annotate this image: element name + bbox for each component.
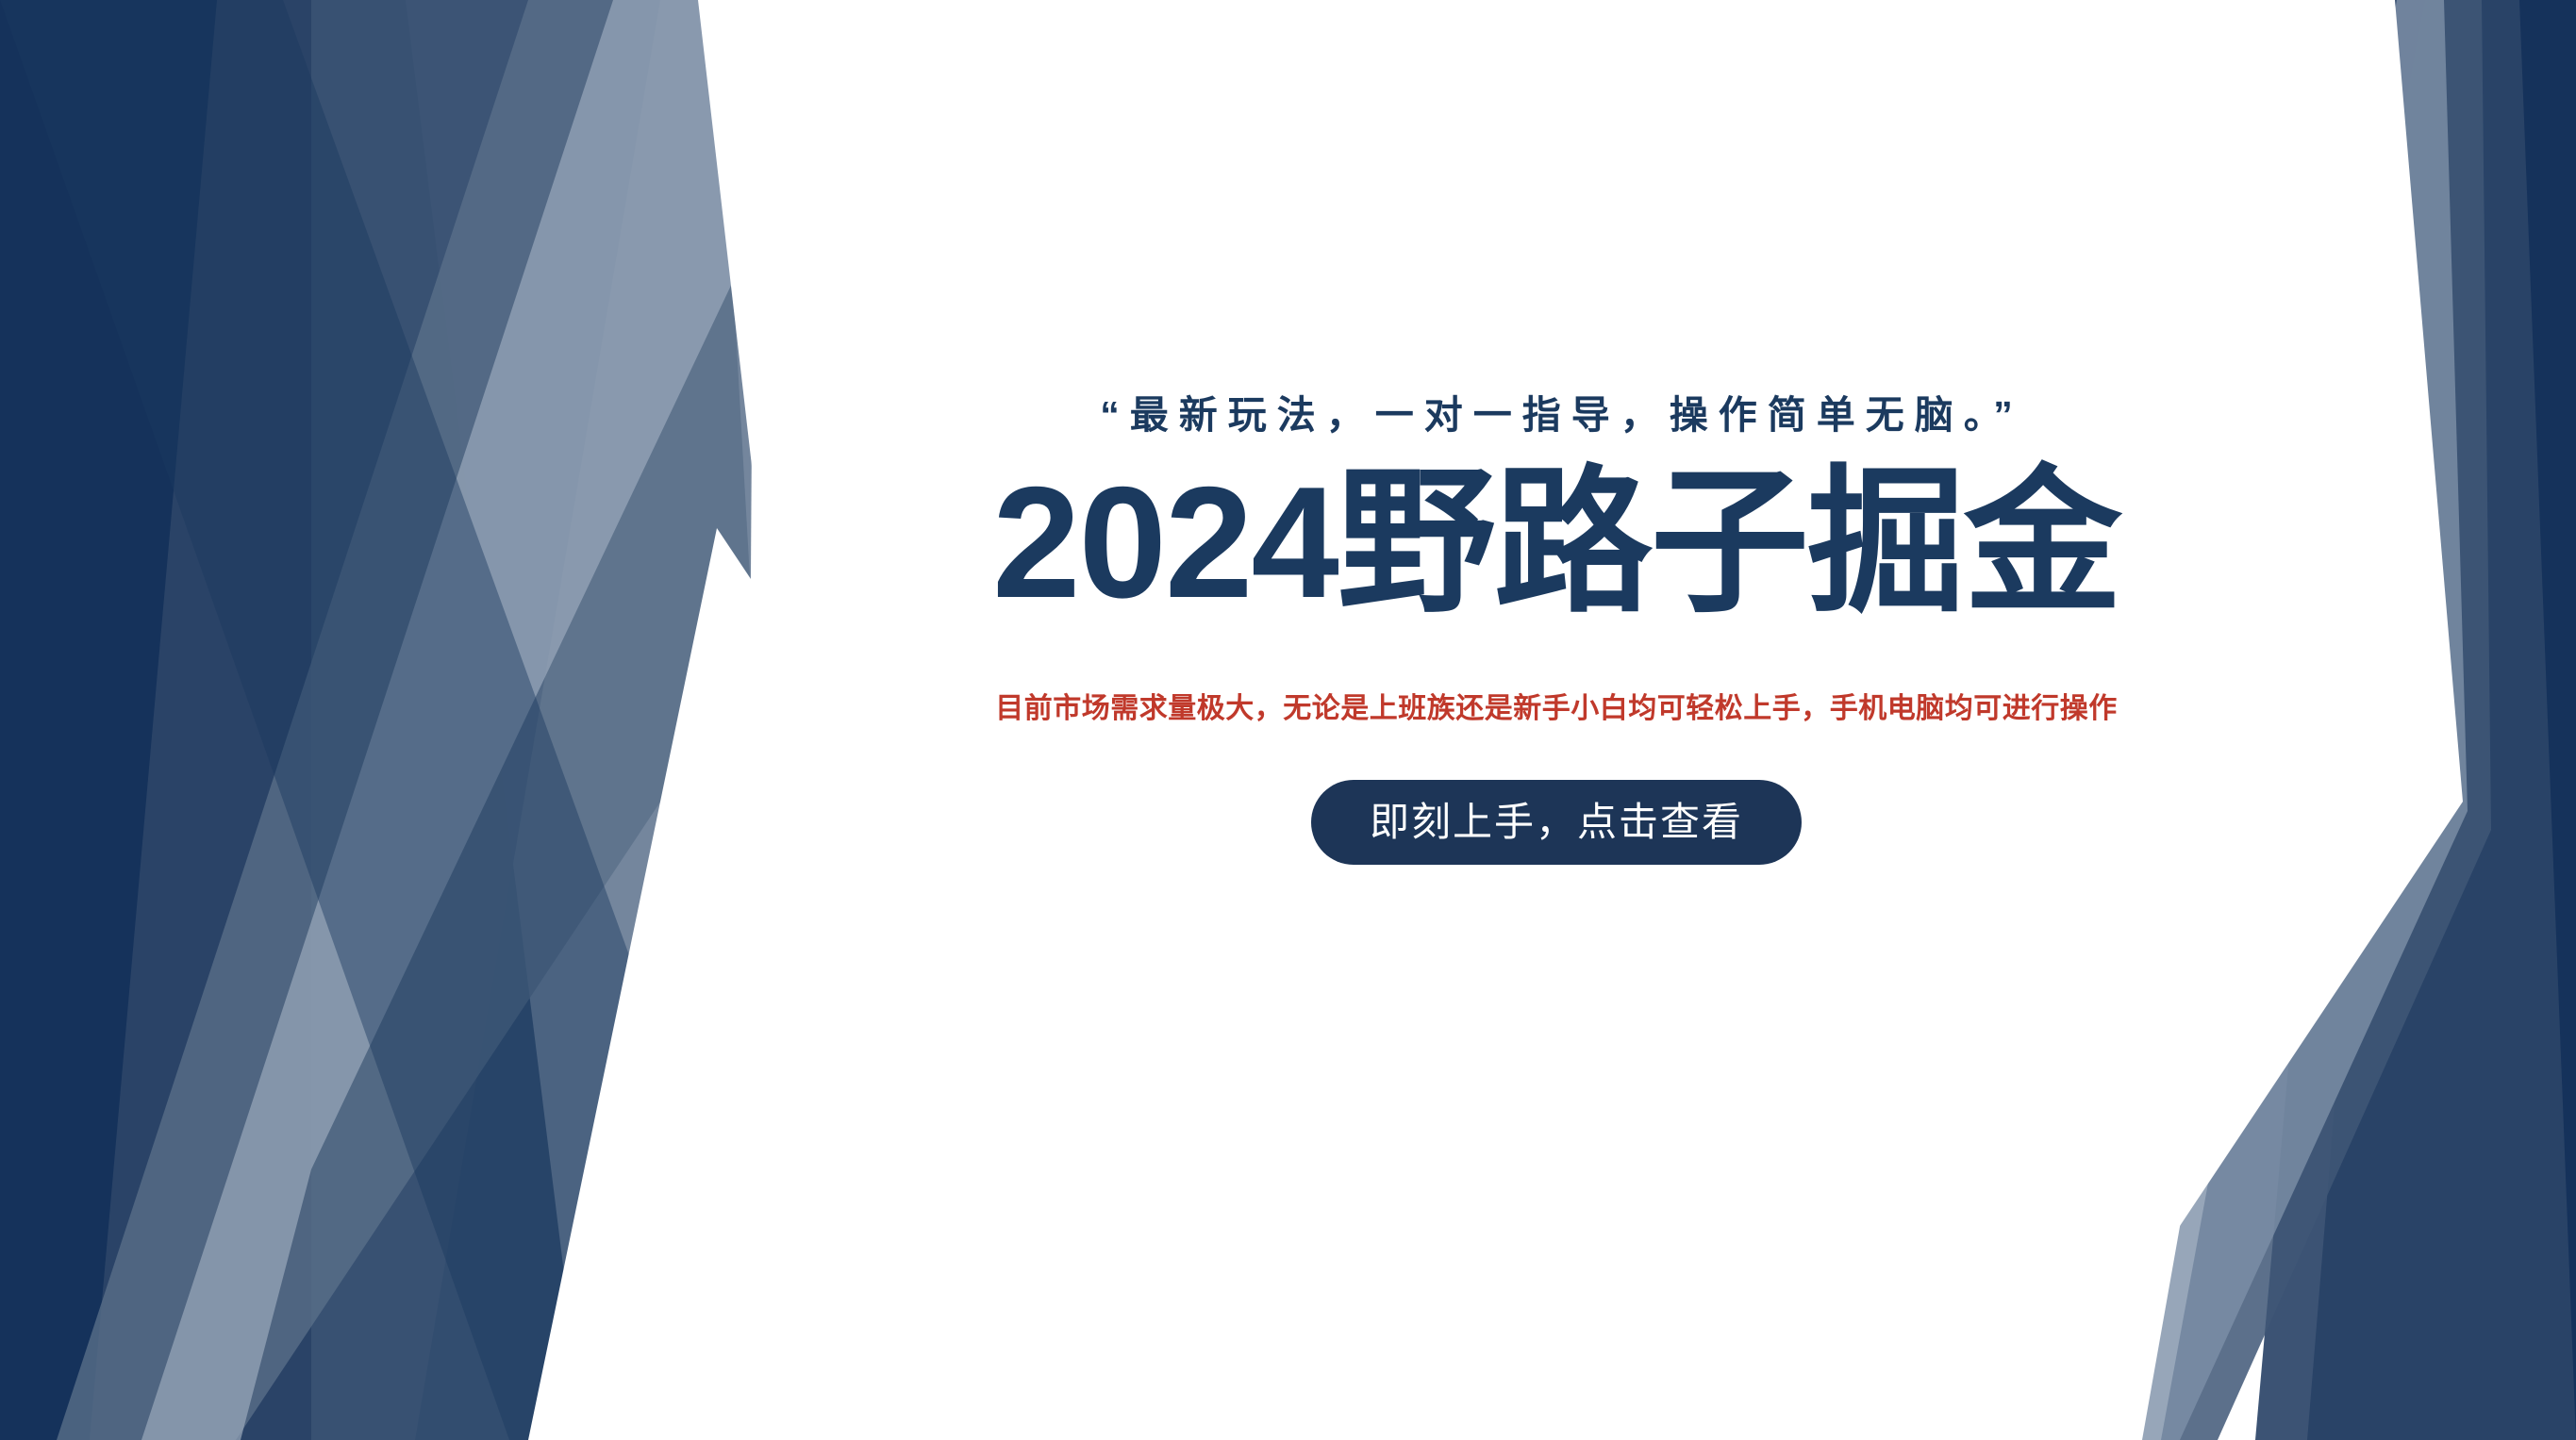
cta-button[interactable]: 即刻上手，点击查看 — [1311, 780, 1802, 865]
content-column: “最新玩法，一对一指导，操作简单无脑。” 2024野路子掘金 目前市场需求量极大… — [717, 0, 2396, 1440]
page-title: 2024野路子掘金 — [992, 449, 2120, 636]
deco-shape-left-b5 — [0, 0, 755, 1440]
deco-shape-left-b3 — [57, 0, 755, 1440]
deco-shape-left-b1 — [90, 0, 660, 1440]
subtitle-text: 目前市场需求量极大，无论是上班族还是新手小白均可轻松上手，手机电脑均可进行操作 — [976, 679, 2136, 738]
cta-container: 即刻上手，点击查看 — [717, 780, 2396, 865]
deco-shape-left-b2 — [311, 0, 755, 1440]
promo-slide: “最新玩法，一对一指导，操作简单无脑。” 2024野路子掘金 目前市场需求量极大… — [0, 0, 2576, 1440]
deco-shape-left-b4 — [141, 0, 755, 1440]
deco-shape-left-base — [0, 0, 585, 1440]
decorative-shapes-left — [0, 0, 755, 1440]
kicker-quote: “最新玩法，一对一指导，操作简单无脑。” — [1089, 391, 2023, 439]
